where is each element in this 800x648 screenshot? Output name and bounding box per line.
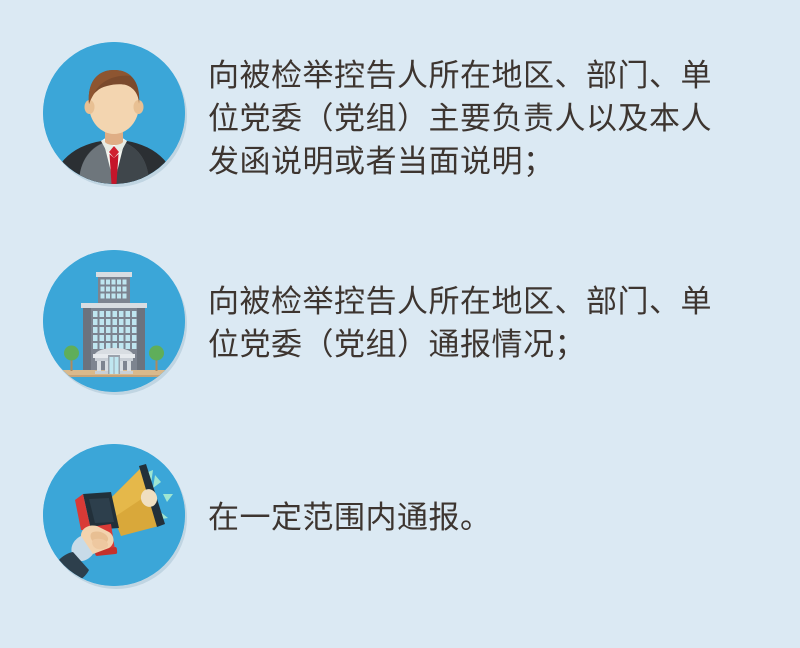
list-item: 在一定范围内通报。 [0, 443, 800, 591]
text-column-2: 向被检举控告人所在地区、部门、单位党委（党组）通报情况； [208, 249, 800, 366]
icon-container-2 [40, 249, 188, 397]
item-text: 向被检举控告人所在地区、部门、单位党委（党组）通报情况； [208, 280, 734, 366]
icon-container-3 [40, 443, 188, 591]
office-building-icon [43, 250, 185, 392]
text-column-1: 向被检举控告人所在地区、部门、单位党委（党组）主要负责人以及本人发函说明或者当面… [208, 41, 800, 183]
item-text: 在一定范围内通报。 [208, 496, 734, 539]
infographic-page: 向被检举控告人所在地区、部门、单位党委（党组）主要负责人以及本人发函说明或者当面… [0, 0, 800, 648]
list-item: 向被检举控告人所在地区、部门、单位党委（党组）主要负责人以及本人发函说明或者当面… [0, 41, 800, 189]
item-text: 向被检举控告人所在地区、部门、单位党委（党组）主要负责人以及本人发函说明或者当面… [208, 54, 734, 183]
megaphone-announcement-icon [43, 444, 185, 586]
person-avatar-icon [43, 42, 185, 184]
text-column-3: 在一定范围内通报。 [208, 443, 800, 539]
list-item: 向被检举控告人所在地区、部门、单位党委（党组）通报情况； [0, 249, 800, 397]
icon-container-1 [40, 41, 188, 189]
